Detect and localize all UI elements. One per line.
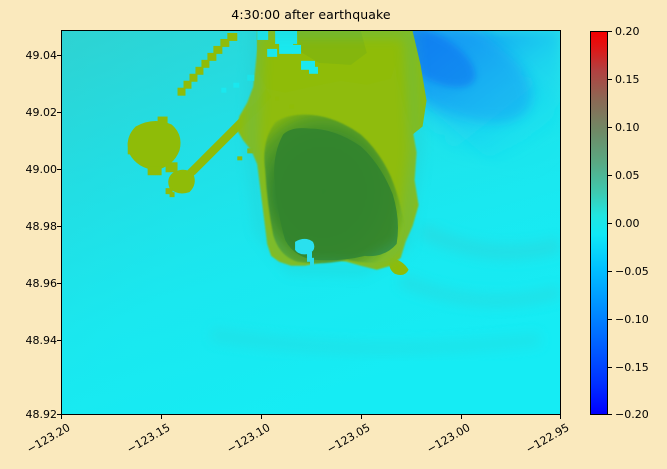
colorbar-tick-label: −0.15 [615,362,649,373]
y-tick-mark [57,55,61,56]
x-tick-label: −123.05 [324,421,372,456]
colorbar-tick-label: 0.00 [615,218,640,229]
x-tick-mark [161,415,162,419]
x-tick-label: −123.00 [424,421,472,456]
x-tick-mark [461,415,462,419]
colorbar-tick-label: 0.15 [615,74,640,85]
colorbar-tick-mark [608,367,612,368]
colorbar-tick-mark [608,414,612,415]
colorbar-tick-label: −0.10 [615,314,649,325]
colorbar-tick-mark [608,31,612,32]
x-tick-mark [560,415,561,419]
map-plot-area[interactable] [61,30,561,415]
y-tick-mark [57,340,61,341]
colorbar[interactable] [590,31,608,415]
x-tick-mark [261,415,262,419]
colorbar-tick-mark [608,223,612,224]
y-tick-label: 48.94 [11,335,57,346]
colorbar-tick-mark [608,271,612,272]
x-tick-mark [61,415,62,419]
heatmap-raster [62,31,560,414]
colorbar-tick-mark [608,79,612,80]
figure-canvas: 4:30:00 after earthquake [0,0,667,469]
y-tick-mark [57,226,61,227]
y-tick-mark [57,169,61,170]
x-tick-label: −123.15 [124,421,172,456]
colorbar-tick-mark [608,319,612,320]
colorbar-tick-mark [608,175,612,176]
y-tick-label: 48.96 [11,278,57,289]
colorbar-tick-label: 0.10 [615,122,640,133]
y-tick-mark [57,283,61,284]
colorbar-tick-label: 0.20 [615,26,640,37]
y-tick-mark [57,112,61,113]
x-tick-mark [361,415,362,419]
x-tick-label: −123.10 [224,421,272,456]
y-tick-label: 49.04 [11,50,57,61]
y-tick-label: 48.98 [11,221,57,232]
chart-title: 4:30:00 after earthquake [61,7,561,22]
colorbar-tick-label: −0.05 [615,266,649,277]
y-tick-label: 49.00 [11,164,57,175]
colorbar-tick-mark [608,127,612,128]
y-tick-label: 49.02 [11,107,57,118]
colorbar-tick-label: 0.05 [615,170,640,181]
x-tick-label: −123.20 [24,421,72,456]
colorbar-tick-label: −0.20 [615,409,649,420]
x-tick-label: −122.95 [523,421,571,456]
y-tick-label: 48.92 [11,409,57,420]
